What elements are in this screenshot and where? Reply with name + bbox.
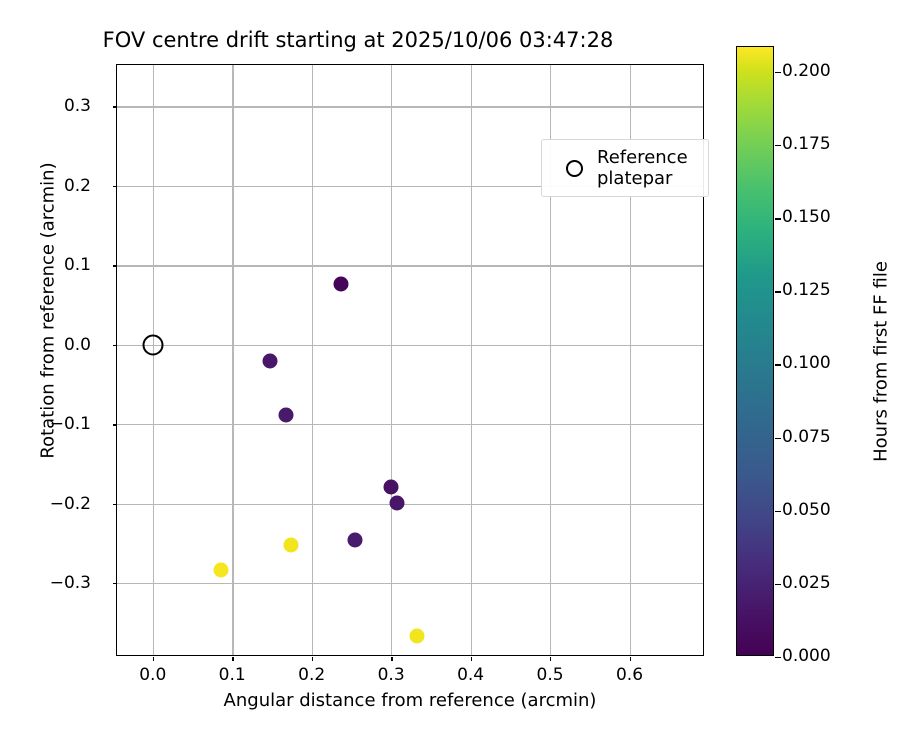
colorbar-tick-label: 0.100 <box>782 353 831 373</box>
grid-line-vertical <box>471 65 472 655</box>
y-tick-label: 0.1 <box>64 255 91 275</box>
colorbar-tick-label: 0.000 <box>782 646 831 666</box>
grid-line-horizontal <box>117 345 703 346</box>
x-tick <box>630 657 631 661</box>
x-tick <box>232 657 233 661</box>
grid-line-vertical <box>232 65 233 655</box>
colorbar <box>736 46 774 656</box>
scatter-point <box>334 277 349 292</box>
scatter-point <box>263 354 278 369</box>
grid-line-vertical <box>391 65 392 655</box>
colorbar-tick-label: 0.125 <box>782 280 831 300</box>
grid-line-horizontal <box>117 265 703 266</box>
colorbar-tick-label: 0.050 <box>782 500 831 520</box>
x-tick <box>391 657 392 661</box>
colorbar-tick <box>775 364 781 365</box>
colorbar-tick <box>775 657 781 658</box>
reference-platepar-point <box>142 334 163 355</box>
y-tick <box>113 504 117 505</box>
scatter-point <box>284 537 299 552</box>
grid-line-vertical <box>312 65 313 655</box>
y-tick <box>113 424 117 425</box>
x-tick <box>550 657 551 661</box>
x-tick-label: 0.3 <box>378 665 405 685</box>
colorbar-tick <box>775 511 781 512</box>
x-tick-label: 0.2 <box>298 665 325 685</box>
colorbar-tick <box>775 218 781 219</box>
colorbar-label: Hours from first FF file <box>871 57 892 667</box>
colorbar-tick <box>775 291 781 292</box>
x-tick-label: 0.0 <box>139 665 166 685</box>
scatter-point <box>279 407 294 422</box>
colorbar-tick-label: 0.175 <box>782 134 831 154</box>
x-axis-label: Angular distance from reference (arcmin) <box>116 690 704 711</box>
scatter-point <box>384 479 399 494</box>
y-tick-label: 0.0 <box>64 335 91 355</box>
chart-title: FOV centre drift starting at 2025/10/06 … <box>0 28 716 52</box>
x-tick <box>471 657 472 661</box>
colorbar-tick-label: 0.200 <box>782 61 831 81</box>
x-tick-label: 0.5 <box>537 665 564 685</box>
plot-axes: Reference platepar 0.00.10.20.30.40.50.6… <box>116 64 704 656</box>
x-tick <box>153 657 154 661</box>
colorbar-tick <box>775 72 781 73</box>
reference-platepar-marker-icon <box>566 160 583 177</box>
scatter-point <box>348 533 363 548</box>
y-axis-label: Rotation from reference (arcmin) <box>38 15 59 607</box>
legend-label-reference-platepar: Reference platepar <box>597 147 688 189</box>
grid-line-horizontal <box>117 583 703 584</box>
colorbar-tick <box>775 584 781 585</box>
colorbar-tick-label: 0.075 <box>782 427 831 447</box>
x-tick-label: 0.1 <box>219 665 246 685</box>
x-tick <box>312 657 313 661</box>
y-tick <box>113 106 117 107</box>
colorbar-tick <box>775 145 781 146</box>
grid-line-horizontal <box>117 504 703 505</box>
colorbar-tick-label: 0.150 <box>782 207 831 227</box>
colorbar-tick <box>775 438 781 439</box>
y-tick <box>113 345 117 346</box>
scatter-point <box>390 495 405 510</box>
grid-line-horizontal <box>117 424 703 425</box>
figure: FOV centre drift starting at 2025/10/06 … <box>0 0 900 750</box>
scatter-point <box>214 562 229 577</box>
x-tick-label: 0.4 <box>457 665 484 685</box>
grid-line-horizontal <box>117 106 703 107</box>
y-tick <box>113 186 117 187</box>
grid-line-vertical <box>153 65 154 655</box>
scatter-point <box>409 628 424 643</box>
legend[interactable]: Reference platepar <box>541 139 709 197</box>
colorbar-tick-label: 0.025 <box>782 573 831 593</box>
y-tick-label: 0.2 <box>64 176 91 196</box>
x-tick-label: 0.6 <box>616 665 643 685</box>
y-tick-label: 0.3 <box>64 96 91 116</box>
y-tick <box>113 583 117 584</box>
y-tick <box>113 265 117 266</box>
